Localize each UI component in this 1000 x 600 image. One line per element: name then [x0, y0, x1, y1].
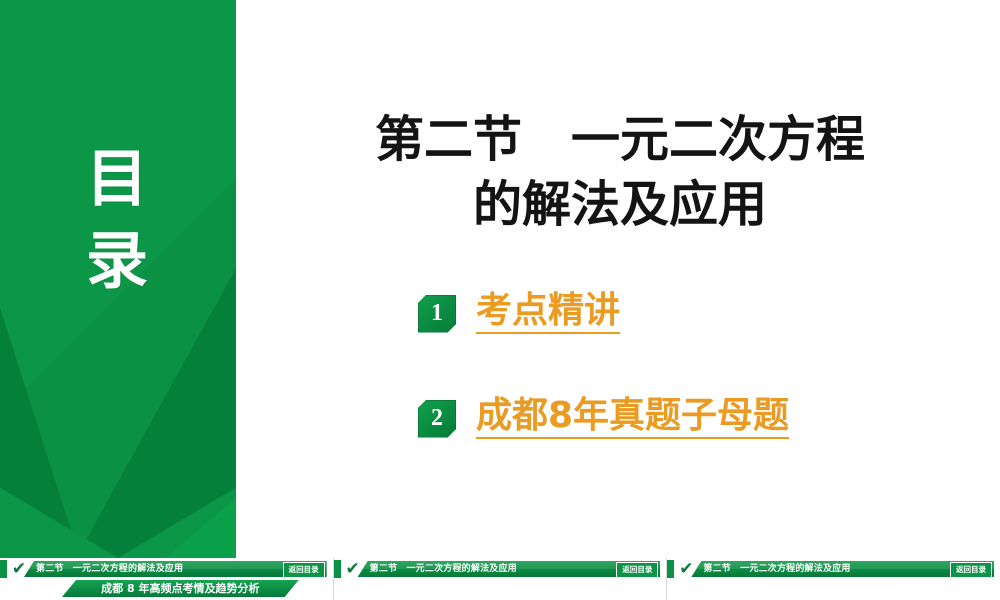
contents-label-char-1: 目	[0, 138, 236, 220]
slide-title-line-2: 的解法及应用	[250, 173, 990, 238]
return-to-contents-button-3[interactable]: 返回目录	[950, 562, 992, 578]
contents-sidebar-panel: 目 录	[0, 0, 236, 558]
slide-thumbnail-3[interactable]: ✔ 第二节 一元二次方程的解法及应用 返回目录	[667, 558, 1000, 600]
presentation-slide-viewer: 目 录 第二节 一元二次方程 的解法及应用 1 考点精讲 2 成都8年真题子母题…	[0, 0, 1000, 600]
thumb-header-title-3: 第二节 一元二次方程的解法及应用	[703, 561, 850, 577]
toc-entry-1[interactable]: 1 考点精讲	[418, 293, 620, 334]
thumb-header-title-1: 第二节 一元二次方程的解法及应用	[36, 561, 183, 577]
thumb-left-edge-decor-1	[0, 560, 7, 578]
sidebar-chevron-decor	[0, 268, 236, 558]
slide-thumbnail-2[interactable]: ✔ 第二节 一元二次方程的解法及应用 返回目录	[334, 558, 668, 600]
toc-number-badge-1: 1	[418, 295, 456, 333]
thumb-header-title-2: 第二节 一元二次方程的解法及应用	[370, 561, 517, 577]
contents-label-char-2: 录	[0, 220, 236, 302]
return-to-contents-button-1[interactable]: 返回目录	[283, 562, 325, 578]
toc-number-badge-2: 2	[418, 400, 456, 438]
toc-entry-2[interactable]: 2 成都8年真题子母题	[418, 398, 789, 439]
thumb-subtitle-text-1: 成都 8 年高频点考情及趋势分析	[62, 580, 299, 597]
slide-title-line-1: 第二节 一元二次方程	[250, 108, 990, 173]
thumb-left-edge-decor-3	[667, 560, 674, 578]
toc-link-label-2[interactable]: 成都8年真题子母题	[476, 398, 789, 439]
slide-thumbnail-strip: ✔ 第二节 一元二次方程的解法及应用 返回目录 成都 8 年高频点考情及趋势分析…	[0, 558, 1000, 600]
contents-vertical-label: 目 录	[0, 138, 236, 302]
return-to-contents-button-2[interactable]: 返回目录	[616, 562, 658, 578]
slide-thumbnail-1[interactable]: ✔ 第二节 一元二次方程的解法及应用 返回目录 成都 8 年高频点考情及趋势分析	[0, 558, 334, 600]
slide-canvas: 目 录 第二节 一元二次方程 的解法及应用 1 考点精讲 2 成都8年真题子母题	[0, 0, 1000, 558]
toc-link-label-1[interactable]: 考点精讲	[476, 293, 620, 334]
thumb-left-edge-decor-2	[334, 560, 341, 578]
slide-title: 第二节 一元二次方程 的解法及应用	[250, 108, 990, 237]
